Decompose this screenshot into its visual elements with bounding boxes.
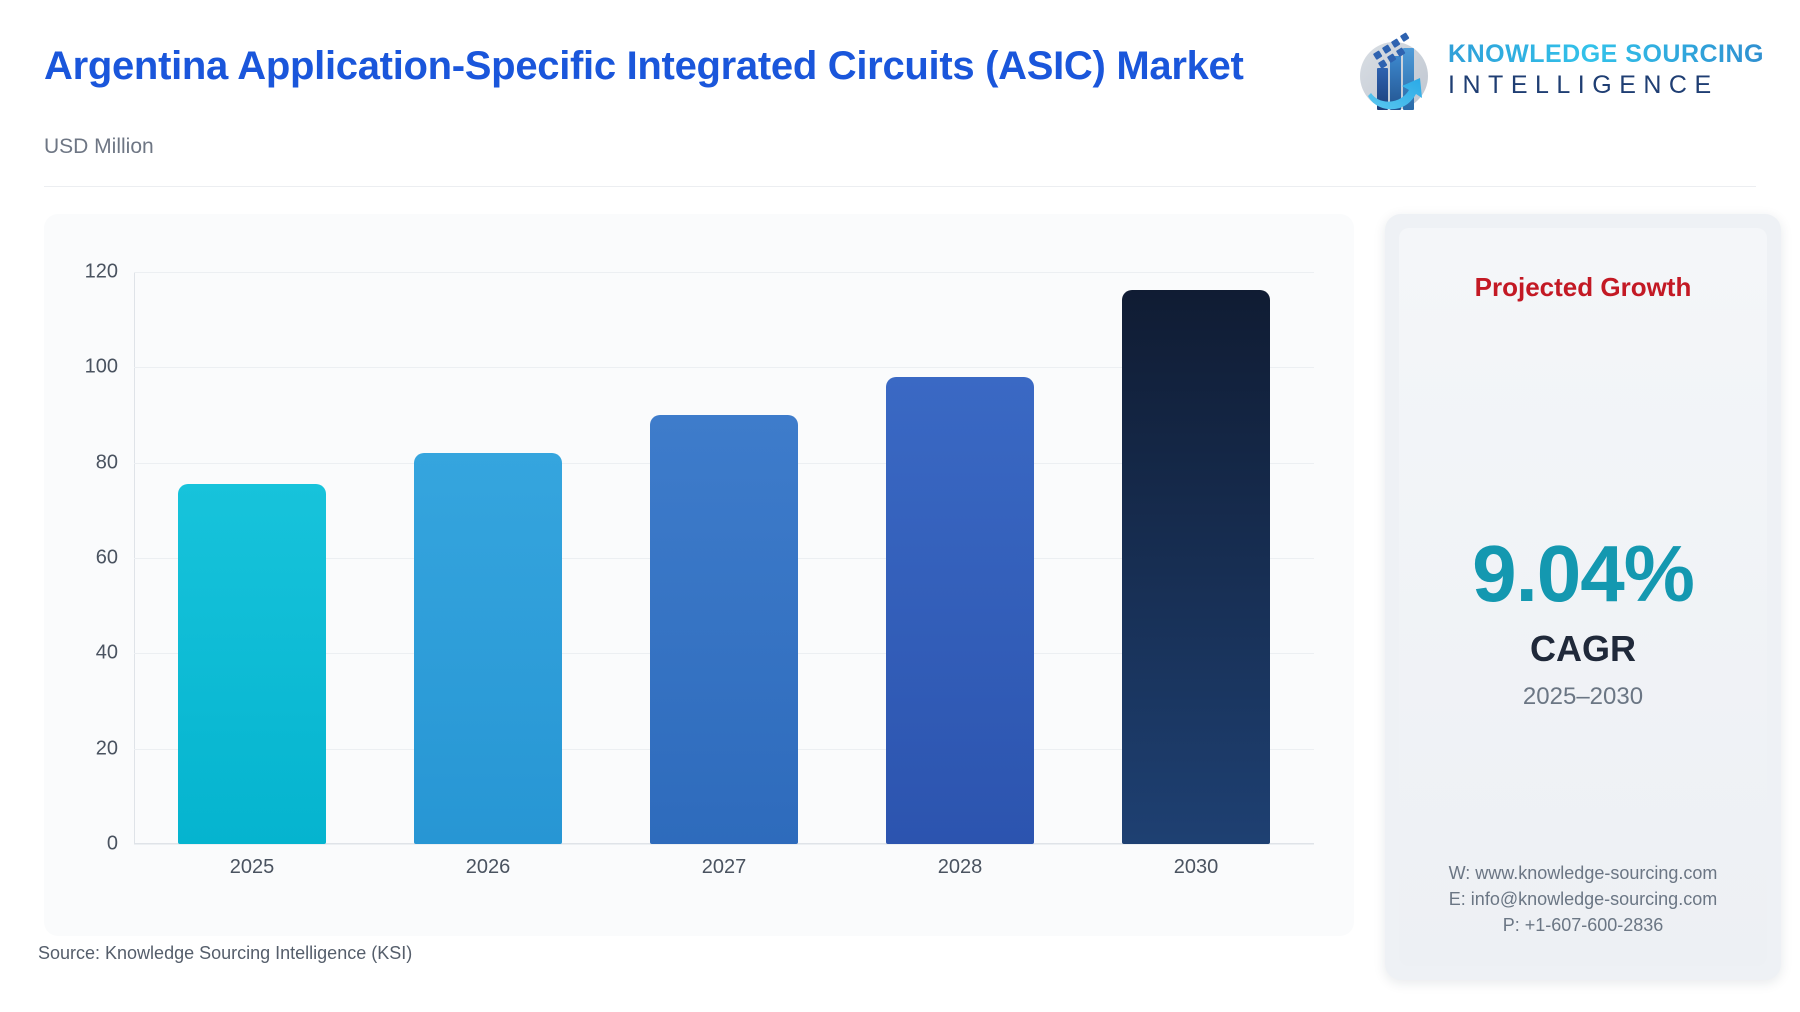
logo-wordmark: KNOWLEDGE SOURCING INTELLIGENCE	[1448, 40, 1764, 100]
bar-column	[1078, 272, 1314, 844]
cagr-label: CAGR	[1399, 628, 1767, 670]
y-axis-tick-label: 120	[85, 261, 118, 284]
x-axis-labels: 20252026202720282030	[134, 856, 1314, 879]
cagr-value: 9.04%	[1399, 528, 1767, 620]
contact-email[interactable]: E: info@knowledge-sourcing.com	[1399, 886, 1767, 912]
contact-phone[interactable]: P: +1-607-600-2836	[1399, 912, 1767, 938]
y-axis-tick-label: 100	[85, 356, 118, 379]
y-axis-tick-label: 20	[96, 737, 118, 760]
chart-page: Argentina Application-Specific Integrate…	[0, 0, 1800, 1012]
plot-area: 020406080100120	[134, 272, 1314, 844]
card-inner: Projected Growth 9.04% CAGR 2025–2030 W:…	[1399, 228, 1767, 966]
y-axis-tick-label: 0	[107, 833, 118, 856]
projected-growth-card: Projected Growth 9.04% CAGR 2025–2030 W:…	[1385, 214, 1781, 980]
units-subtitle: USD Million	[44, 135, 154, 159]
projected-growth-title: Projected Growth	[1399, 272, 1767, 303]
globe-chart-logo-icon	[1352, 22, 1436, 118]
company-logo: KNOWLEDGE SOURCING INTELLIGENCE	[1352, 22, 1764, 118]
y-axis-tick-label: 40	[96, 642, 118, 665]
bar-2025[interactable]	[178, 484, 326, 844]
source-note: Source: Knowledge Sourcing Intelligence …	[38, 943, 412, 964]
x-axis-label-2026: 2026	[370, 856, 606, 879]
page-title: Argentina Application-Specific Integrate…	[44, 44, 1244, 89]
bar-2026[interactable]	[414, 453, 562, 844]
logo-line-knowledge-sourcing: KNOWLEDGE SOURCING	[1448, 40, 1764, 69]
bar-column	[134, 272, 370, 844]
y-axis-tick-label: 80	[96, 451, 118, 474]
contact-website[interactable]: W: www.knowledge-sourcing.com	[1399, 860, 1767, 886]
x-axis-label-2025: 2025	[134, 856, 370, 879]
chart-panel: 020406080100120 20252026202720282030	[44, 214, 1354, 936]
bar-series	[134, 272, 1314, 844]
cagr-period: 2025–2030	[1399, 683, 1767, 711]
bar-2030[interactable]	[1122, 290, 1270, 844]
bar-column	[370, 272, 606, 844]
x-axis-label-2028: 2028	[842, 856, 1078, 879]
x-axis-label-2027: 2027	[606, 856, 842, 879]
header: Argentina Application-Specific Integrate…	[0, 0, 1800, 186]
logo-line-intelligence: INTELLIGENCE	[1448, 71, 1764, 100]
header-divider	[44, 186, 1756, 187]
y-axis-tick-label: 60	[96, 547, 118, 570]
bar-column	[842, 272, 1078, 844]
bar-column	[606, 272, 842, 844]
gridline	[134, 844, 1314, 845]
bar-2027[interactable]	[650, 415, 798, 844]
contact-block: W: www.knowledge-sourcing.com E: info@kn…	[1399, 860, 1767, 938]
x-axis-label-2030: 2030	[1078, 856, 1314, 879]
bar-2028[interactable]	[886, 377, 1034, 844]
